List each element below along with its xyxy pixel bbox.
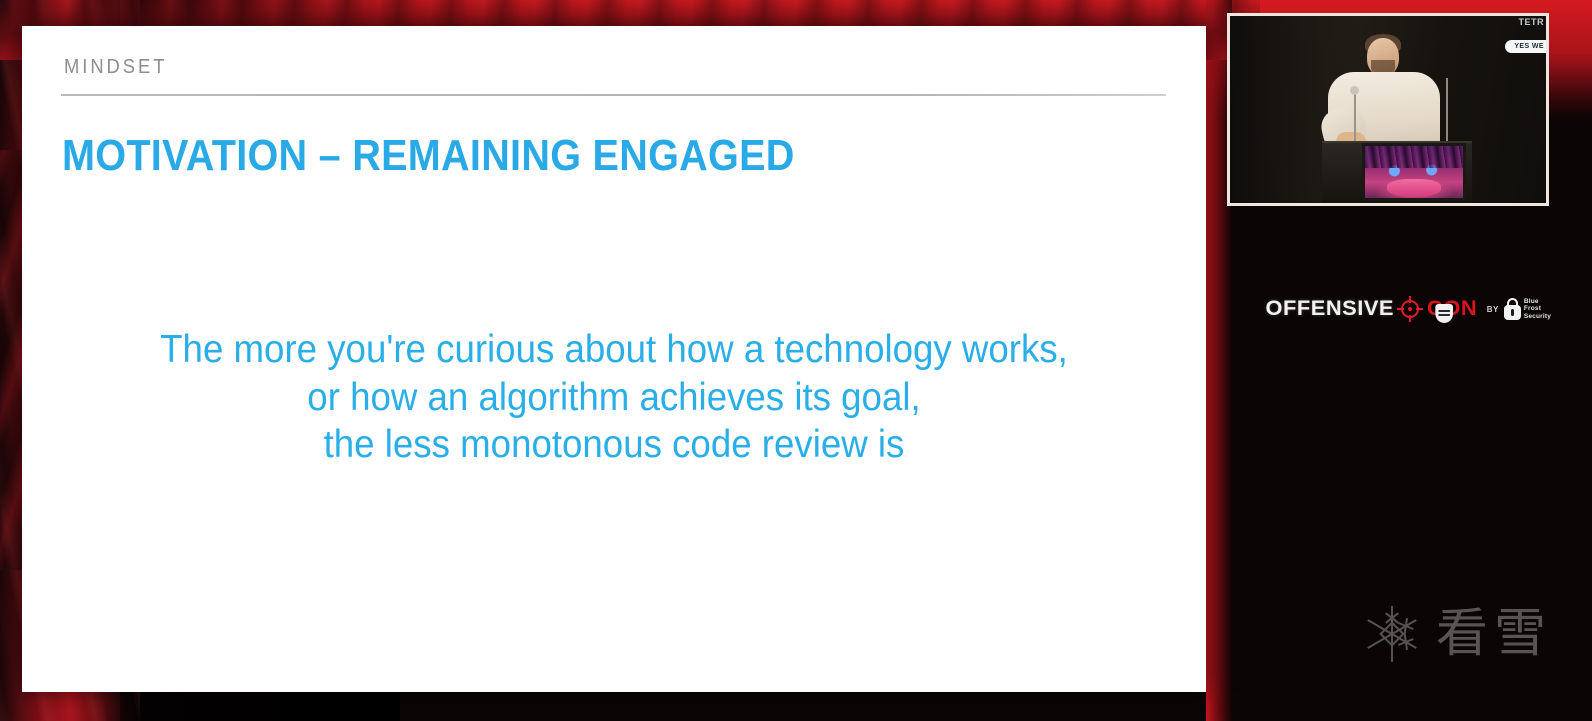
page-title: MOTIVATION – REMAINING ENGAGED [62,131,795,181]
lock-icon [1504,298,1521,320]
kanxue-watermark: 看雪 [1362,604,1552,664]
video-scene [1230,16,1546,203]
crosshair-dot [1408,307,1412,311]
logo-word-offensive: OFFENSIVE [1266,297,1394,321]
sponsor-line-1: Blue [1524,298,1551,305]
sponsor-line-3: Security [1524,313,1551,320]
crosshair-icon [1397,296,1423,322]
sponsor-name: Blue Frost Security [1524,298,1551,320]
logo-by-label: BY [1487,305,1499,314]
status-badge: YES WE [1505,40,1549,53]
quote-block: The more you're curious about how a tech… [22,326,1206,469]
anime-hair [1365,146,1463,168]
anime-mask [1387,179,1442,197]
microphone-head [1350,86,1359,95]
crosshair-tick-north [1409,296,1411,303]
podium-display [1362,143,1466,201]
slide-content: MINDSET MOTIVATION – REMAINING ENGAGED T… [22,26,1206,692]
shield-icon [1435,304,1453,323]
quote-line-2: or how an algorithm achieves its goal, [58,374,1171,422]
snowflake-icon [1362,604,1422,664]
speaker-video-feed[interactable]: TETR YES WE [1227,13,1549,206]
watermark-text: 看雪 [1436,608,1552,660]
sponsor-logo: Blue Frost Security [1504,298,1551,320]
quote-line-3: the less monotonous code review is [58,421,1171,469]
anime-artwork [1365,146,1463,198]
crosshair-tick-east [1416,308,1423,310]
offensivecon-logo: OFFENSIVE CON BY Blue Frost Security [1268,292,1551,326]
crosshair-tick-west [1397,308,1404,310]
quote-line-1: The more you're curious about how a tech… [58,326,1171,374]
presentation-slide: MINDSET MOTIVATION – REMAINING ENGAGED T… [22,26,1206,692]
sponsor-line-2: Frost [1524,305,1551,312]
slide-divider [61,94,1166,96]
slide-kicker: MINDSET [64,56,167,79]
crosshair-tick-south [1409,315,1411,322]
logo-word-con-wrap: CON [1427,297,1477,321]
lock-keyhole [1511,309,1514,316]
video-overlay-top-text: TETR [1519,17,1545,27]
